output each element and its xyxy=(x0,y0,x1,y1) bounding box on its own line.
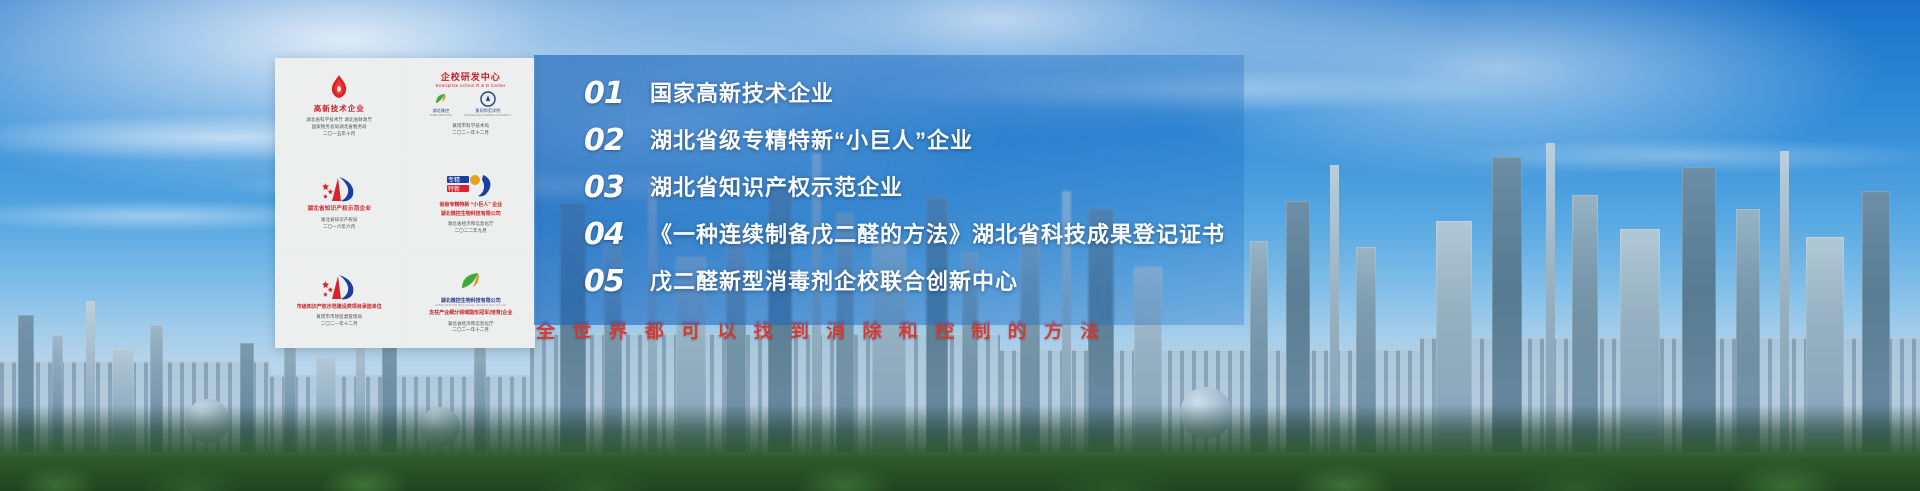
list-item-label: 湖北省知识产权示范企业 xyxy=(650,177,903,199)
certificate-title: 湖北省知识产权示范企业 xyxy=(307,206,371,213)
list-item: 03 湖北省知识产权示范企业 xyxy=(584,173,1225,203)
star-sail-emblem-icon xyxy=(319,272,359,302)
list-item-label: 国家高新技术企业 xyxy=(650,83,834,105)
certificate-date: 二〇二一年十二月 xyxy=(316,321,362,328)
list-item-number: 01 xyxy=(584,79,628,109)
star-sail-emblem-icon xyxy=(319,174,359,204)
certificate-company-en: HUBEI WEIKONG BIOLOGICAL TECHNOLOGY CO.,… xyxy=(435,304,506,307)
certificate-title: 高新技术企业 xyxy=(314,104,365,113)
flame-emblem-icon xyxy=(326,72,352,102)
certificate-heading-en: Enterprise school R & D Center xyxy=(436,83,506,88)
promo-banner: 全 世 界 都 可 以 找 到 消 除 和 控 制 的 方 法 高新技术企业 湖… xyxy=(0,0,1920,491)
certificate-card[interactable]: 企校研发中心 Enterprise school R & D Center 湖北… xyxy=(407,58,536,153)
certificate-date: 二〇二一年十二月 xyxy=(452,130,489,137)
zhuanjing-texin-logo-icon: 专精 特新 xyxy=(445,170,497,200)
vegetation-strip xyxy=(0,417,1920,491)
certificate-date: 二〇二二年九月 xyxy=(448,228,494,235)
huanggang-university-logo-icon: 黄冈师范学院 HUANGGANG NORMAL UNIVERSITY xyxy=(464,91,512,117)
weikong-company-logo-icon xyxy=(458,266,484,296)
certificate-issuer-line: 湖北省知识产权局 xyxy=(321,217,358,224)
list-item-number: 04 xyxy=(584,220,628,250)
certificate-subtitle: 湖北微控生物科技有限公司 xyxy=(441,211,501,217)
list-item: 04 《一种连续制备戊二醛的方法》湖北省科技成果登记证书 xyxy=(584,220,1225,250)
certificate-title: 省级专精特新 “小巨人” 企业 xyxy=(439,202,502,208)
certificate-date: 二〇二一年十二月 xyxy=(448,327,494,334)
certificate-card[interactable]: 专精 特新 省级专精特新 “小巨人” 企业 湖北微控生物科技有限公司 湖北省经济… xyxy=(407,156,536,251)
list-item-number: 03 xyxy=(584,173,628,203)
honors-list: 01 国家高新技术企业 02 湖北省级专精特新“小巨人”企业 03 湖北省知识产… xyxy=(584,79,1225,297)
certificate-date: 二〇一五年十月 xyxy=(306,131,372,138)
certificate-issuer-line: 国家税务总局湖北省税务局 xyxy=(306,124,372,131)
logo-label-en: HUANGGANG NORMAL UNIVERSITY xyxy=(464,114,512,117)
certificate-card[interactable]: 市级知识产权示范建设类项目承担单位 黄冈市市场监督管理局 二〇二一年十二月 xyxy=(275,253,404,348)
list-item: 02 湖北省级专精特新“小巨人”企业 xyxy=(584,126,1225,156)
list-item: 01 国家高新技术企业 xyxy=(584,79,1225,109)
certificate-card[interactable]: 湖北微控生物科技有限公司 HUBEI WEIKONG BIOLOGICAL TE… xyxy=(407,253,536,348)
certificate-title: 支柱产业细分领域隐形冠军(培育)企业 xyxy=(429,310,512,316)
list-item-label: 戊二醛新型消毒剂企校联合创新中心 xyxy=(650,271,1018,293)
svg-text:专精: 专精 xyxy=(448,176,460,184)
certificate-grid: 高新技术企业 湖北省科学技术厅 湖北省财政厅 国家税务总局湖北省税务局 二〇一五… xyxy=(275,58,535,348)
svg-text:特新: 特新 xyxy=(448,185,460,193)
list-item-number: 05 xyxy=(584,267,628,297)
honors-overlay-panel: 01 国家高新技术企业 02 湖北省级专精特新“小巨人”企业 03 湖北省知识产… xyxy=(534,55,1244,325)
certificate-card[interactable]: 湖北省知识产权示范企业 湖北省知识产权局 二〇一六年六月 xyxy=(275,156,404,251)
logo-label-en: HUBEI WEIKONG xyxy=(430,114,452,117)
certificate-heading: 企校研发中心 xyxy=(441,73,501,83)
list-item: 05 戊二醛新型消毒剂企校联合创新中心 xyxy=(584,267,1225,297)
certificate-title: 市级知识产权示范建设类项目承担单位 xyxy=(297,304,382,310)
weikong-logo-icon: 湖北微控 HUBEI WEIKONG xyxy=(430,91,452,117)
list-item-label: 《一种连续制备戊二醛的方法》湖北省科技成果登记证书 xyxy=(650,224,1225,246)
list-item-label: 湖北省级专精特新“小巨人”企业 xyxy=(650,130,973,152)
certificate-date: 二〇一六年六月 xyxy=(321,224,358,231)
list-item-number: 02 xyxy=(584,126,628,156)
certificate-issuer-line: 湖北省经济和信息化厅 xyxy=(448,221,494,228)
certificate-card[interactable]: 高新技术企业 湖北省科学技术厅 湖北省财政厅 国家税务总局湖北省税务局 二〇一五… xyxy=(275,58,404,153)
